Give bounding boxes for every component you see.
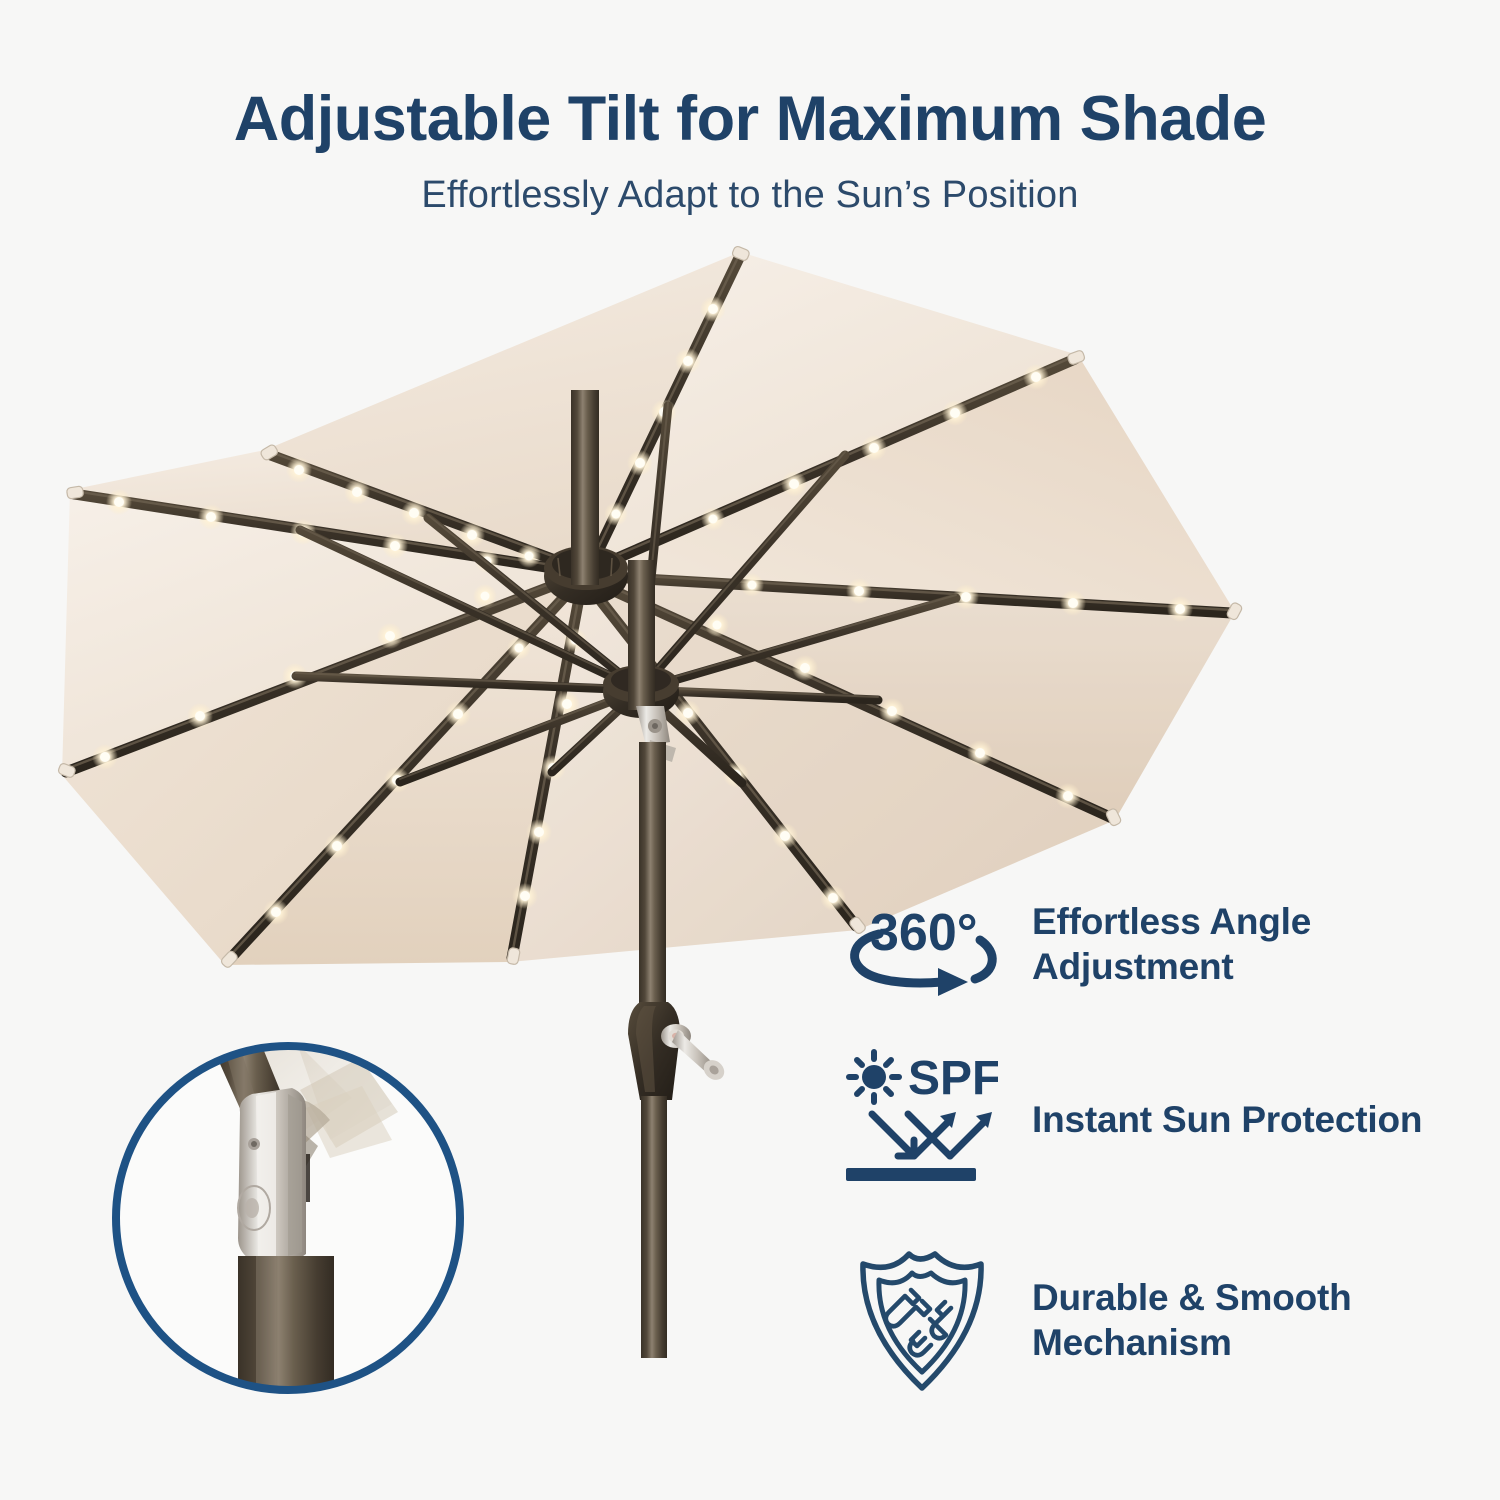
360-degree-rotation-icon: 360°: [846, 888, 998, 1000]
360-icon-text: 360°: [870, 904, 978, 962]
feature-label-sun-protection: Instant Sun Protection: [1032, 1097, 1422, 1142]
feature-label-line: Instant Sun Protection: [1032, 1097, 1422, 1142]
feature-item-sun-protection: SPF Instant Sun Protection: [846, 1044, 1486, 1196]
crank-mechanism: [628, 1002, 728, 1100]
feature-label-line: Effortless Angle: [1032, 899, 1311, 944]
feature-label-line: Mechanism: [1032, 1320, 1352, 1365]
umbrella-pole-lower: [641, 1096, 667, 1358]
feature-label-angle-adjustment: Effortless Angle Adjustment: [1032, 899, 1311, 989]
feature-label-line: Durable & Smooth: [1032, 1275, 1352, 1320]
feature-list: 360° Effortless Angle Adjustment: [846, 888, 1486, 1438]
feature-item-durability: Durable & Smooth Mechanism: [846, 1246, 1486, 1394]
tilt-mechanism-inset: [116, 1046, 460, 1396]
shield-wrench-durability-icon: [846, 1246, 998, 1394]
feature-label-line: Adjustment: [1032, 944, 1311, 989]
spf-icon-text: SPF: [908, 1052, 998, 1105]
spf-sun-protection-icon: SPF: [846, 1044, 998, 1196]
feature-label-durability: Durable & Smooth Mechanism: [1032, 1275, 1352, 1365]
feature-item-angle-adjustment: 360° Effortless Angle Adjustment: [846, 888, 1486, 1000]
umbrella-pole-mid: [639, 742, 666, 1004]
